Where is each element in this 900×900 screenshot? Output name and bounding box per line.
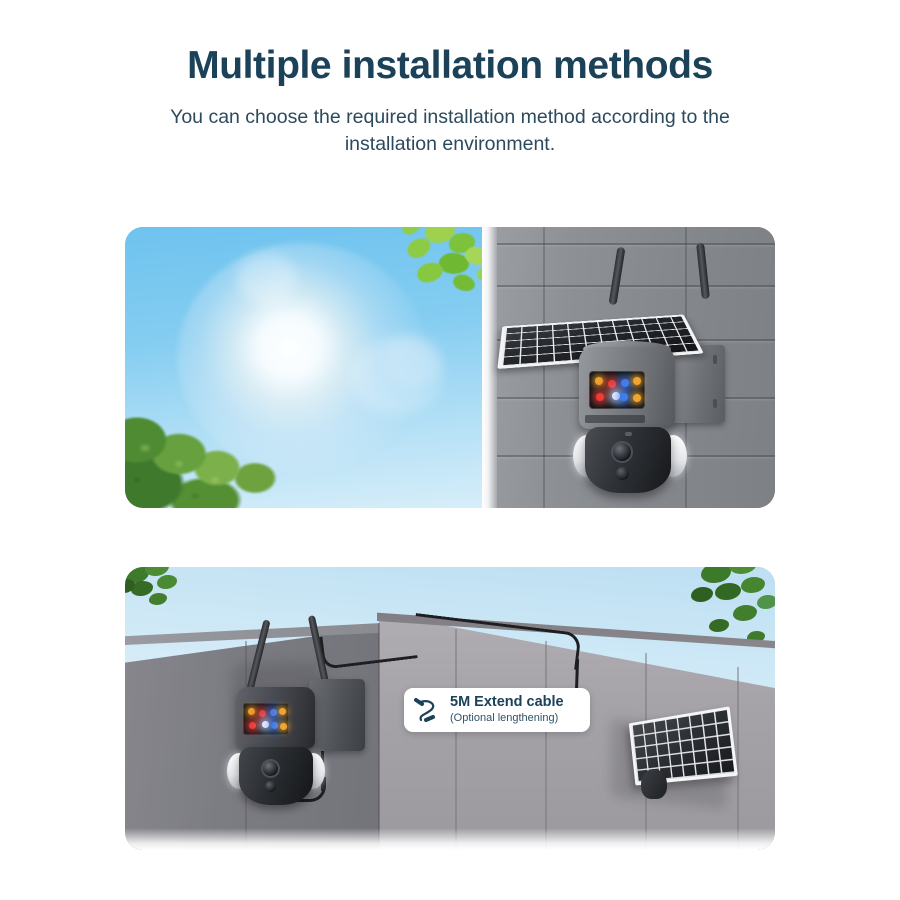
camera-lens-main (261, 759, 280, 778)
badge-integrated-installation: Integrated installation (285, 186, 615, 230)
antenna-right (696, 243, 710, 300)
ptz-camera-head (239, 747, 313, 805)
section-extend: Extend installation (0, 527, 900, 571)
page-title: Multiple installation methods (0, 44, 900, 88)
section-integrated: Integrated installation (0, 186, 900, 230)
badge-extend-installation: Extend installation (285, 527, 615, 571)
solar-panel-bracket (641, 769, 667, 799)
callout-text: 5M Extend cable (Optional lengthening) (450, 695, 564, 725)
badge-wrap-integrated: Integrated installation (0, 186, 900, 230)
wall-seam (455, 629, 457, 849)
ptz-camera-head (585, 427, 671, 493)
siding-line (497, 243, 775, 245)
cable-icon (413, 696, 443, 724)
badge-label: Integrated installation (347, 196, 554, 221)
lens-flare (237, 253, 297, 305)
bottom-fade (125, 828, 775, 850)
page-subtitle: You can choose the required installation… (170, 104, 730, 159)
badge-wrap-extend: Extend installation (0, 527, 900, 571)
wall-mount-bracket (309, 679, 365, 751)
tree-foliage-left (125, 567, 195, 635)
camera-lens-main (611, 441, 633, 463)
callout-subtitle: (Optional lengthening) (450, 713, 564, 725)
led-indicator-panel (589, 371, 645, 409)
panel-mount-arm (669, 345, 725, 423)
wall-seam (545, 641, 547, 849)
microphone-port (625, 432, 632, 436)
lens-flare (383, 335, 441, 387)
wall-seam (737, 667, 739, 849)
antenna-left (246, 619, 270, 691)
antenna-left (609, 247, 626, 306)
callout-title: 5M Extend cable (450, 695, 564, 711)
badge-label: Extend installation (362, 537, 538, 562)
tree-foliage-right (671, 567, 775, 681)
tree-foliage-highlights (125, 418, 295, 508)
integrated-installation-photo (125, 227, 775, 508)
extend-cable-callout: 5M Extend cable (Optional lengthening) (404, 688, 590, 732)
security-camera-device (211, 617, 401, 817)
brand-label (585, 415, 645, 423)
antenna-right (308, 615, 329, 685)
solar-camera-device (493, 249, 775, 499)
header: Multiple installation methods You can ch… (0, 44, 900, 159)
camera-lens-secondary (616, 467, 629, 480)
led-indicator-panel (243, 703, 289, 735)
camera-lens-secondary (265, 781, 276, 792)
product-infographic-page: Multiple installation methods You can ch… (0, 0, 900, 900)
